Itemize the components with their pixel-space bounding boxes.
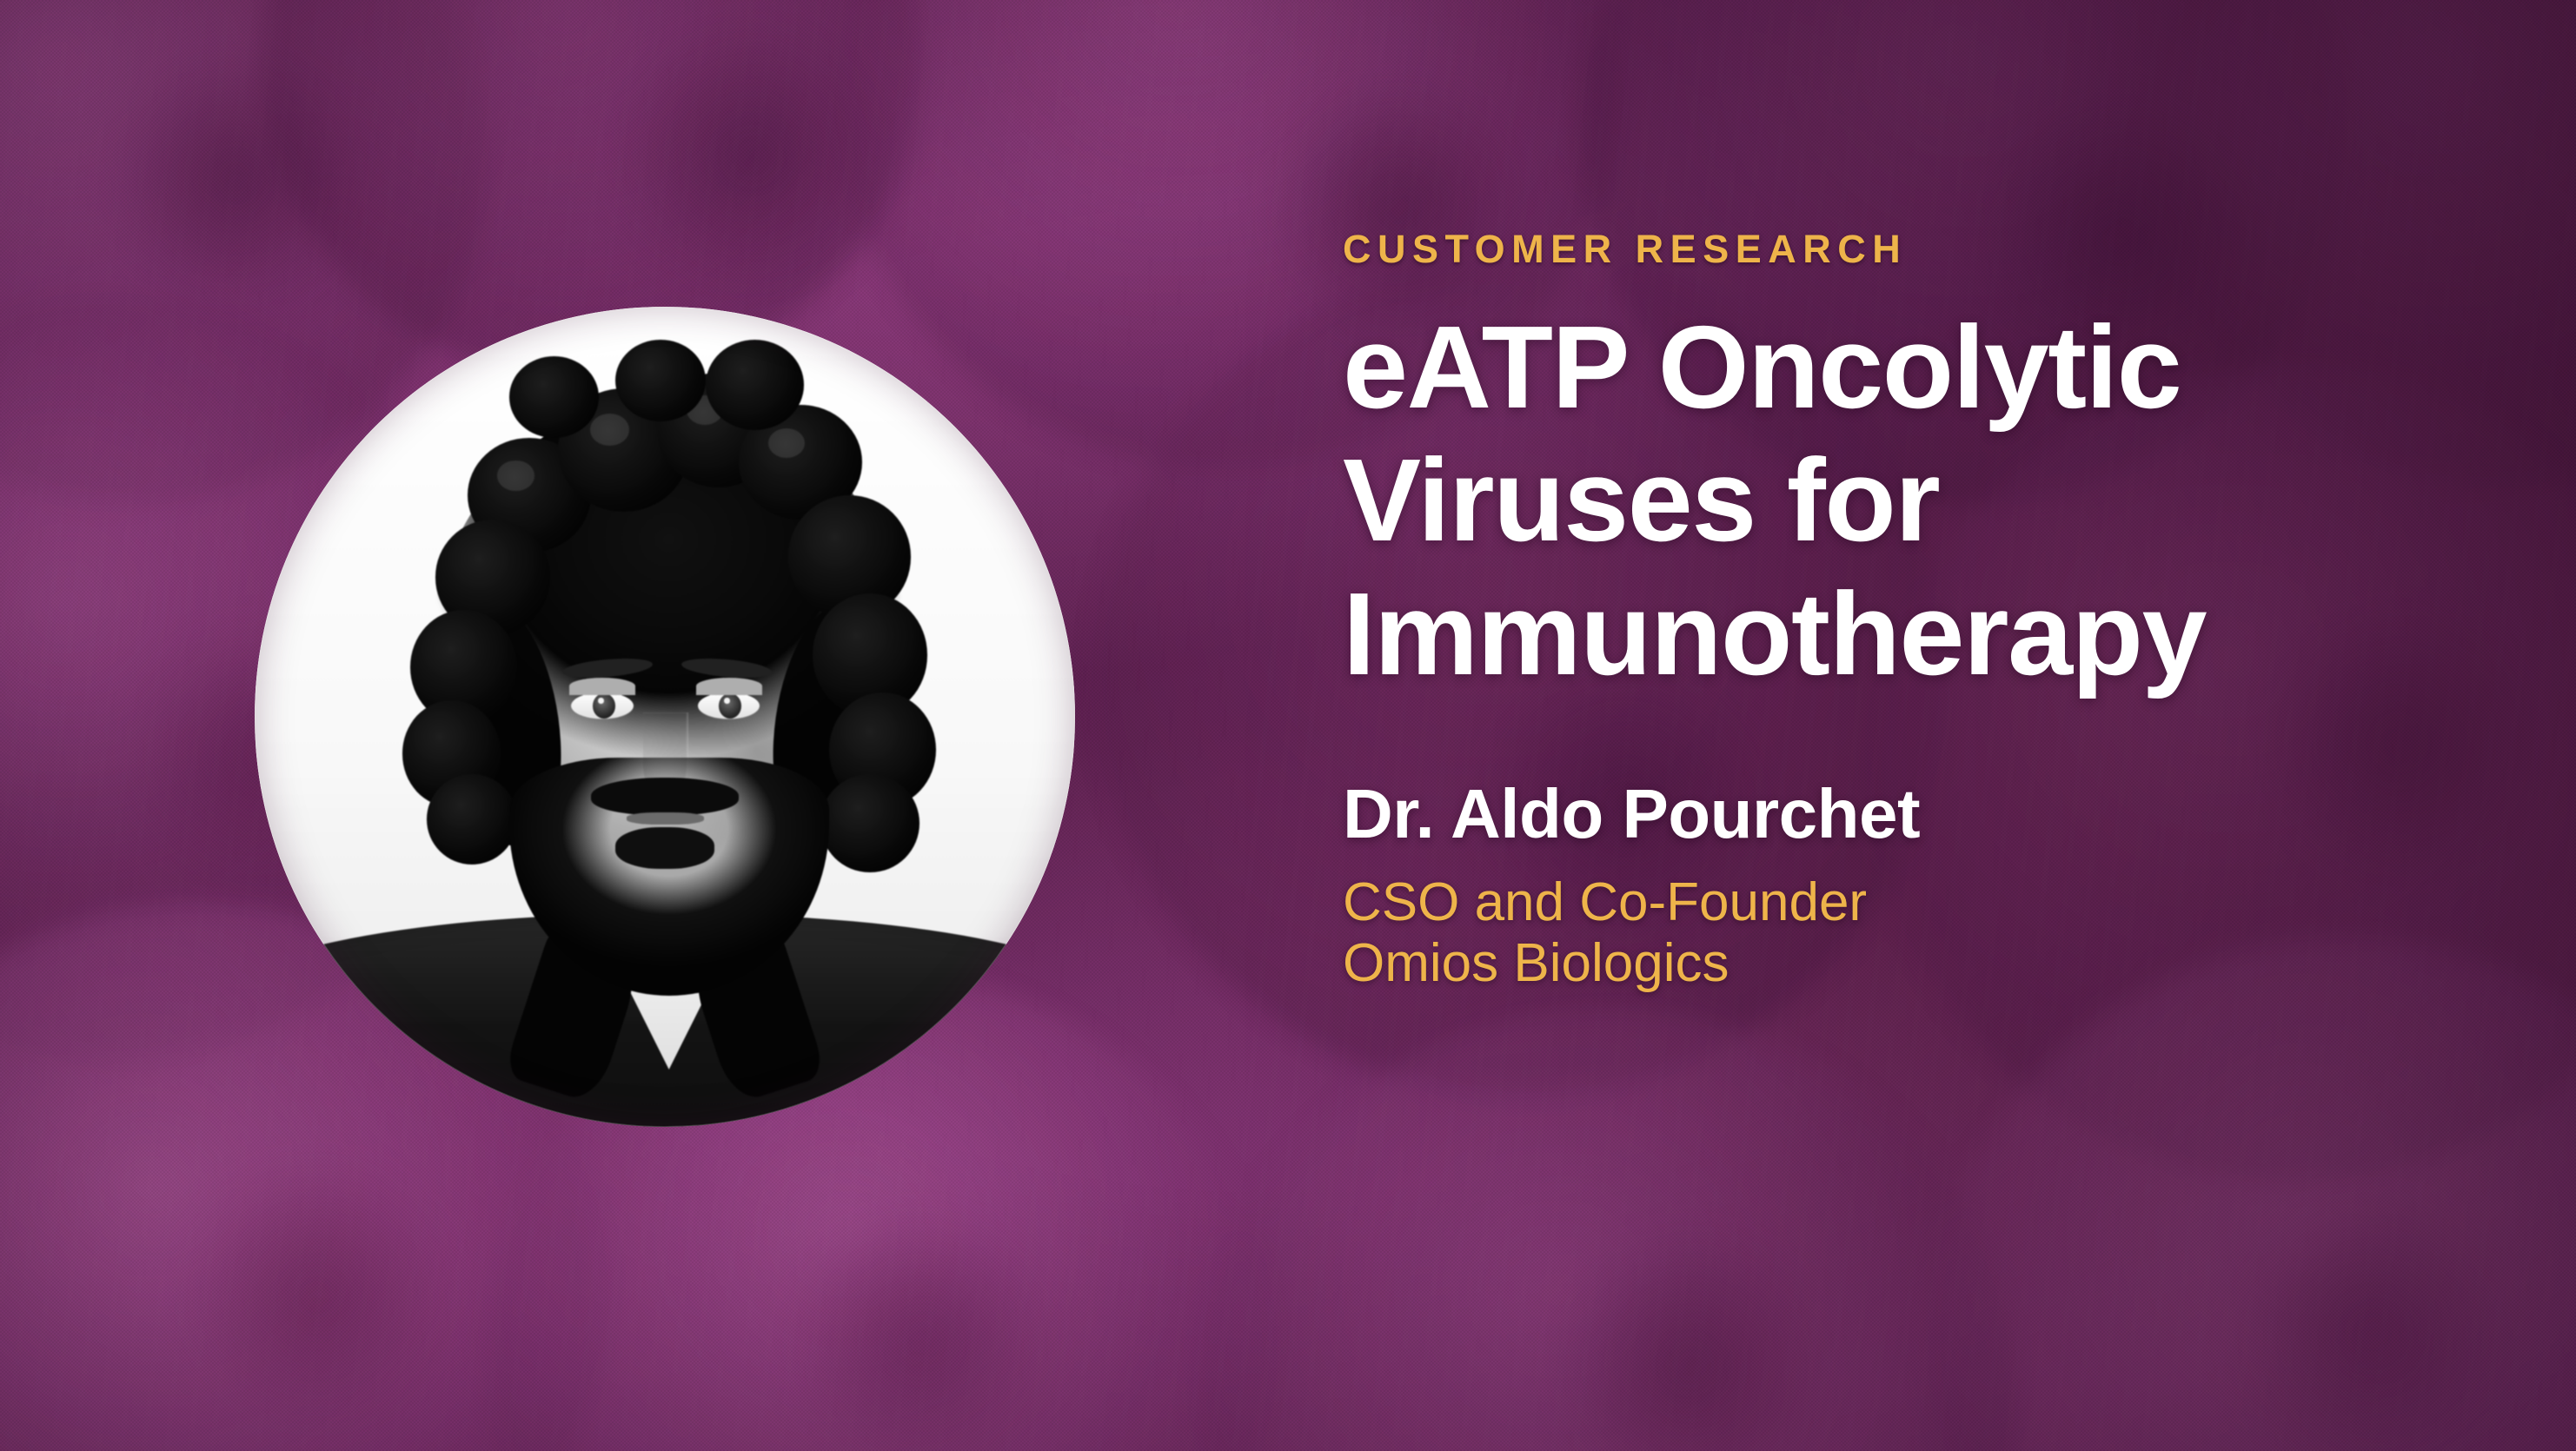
speaker-portrait <box>255 307 1075 1127</box>
slide-title-line-3: Immunotherapy <box>1343 574 2559 694</box>
slide-title-line-1: eATP Oncolytic <box>1343 308 2559 427</box>
speaker-photo <box>255 307 1075 1127</box>
slide-title: eATP Oncolytic Viruses for Immunotherapy <box>1343 308 2559 694</box>
slide-text-column: CUSTOMER RESEARCH eATP Oncolytic Viruses… <box>1343 228 2559 995</box>
slide-title-line-2: Viruses for <box>1343 441 2559 560</box>
presentation-slide: CUSTOMER RESEARCH eATP Oncolytic Viruses… <box>0 0 2576 1451</box>
speaker-company: Omios Biologics <box>1343 933 2559 995</box>
speaker-name: Dr. Aldo Pourchet <box>1343 778 2559 850</box>
speaker-role: CSO and Co-Founder <box>1343 872 2559 934</box>
speaker-affiliation: CSO and Co-Founder Omios Biologics <box>1343 872 2559 995</box>
slide-eyebrow-label: CUSTOMER RESEARCH <box>1343 228 2559 271</box>
